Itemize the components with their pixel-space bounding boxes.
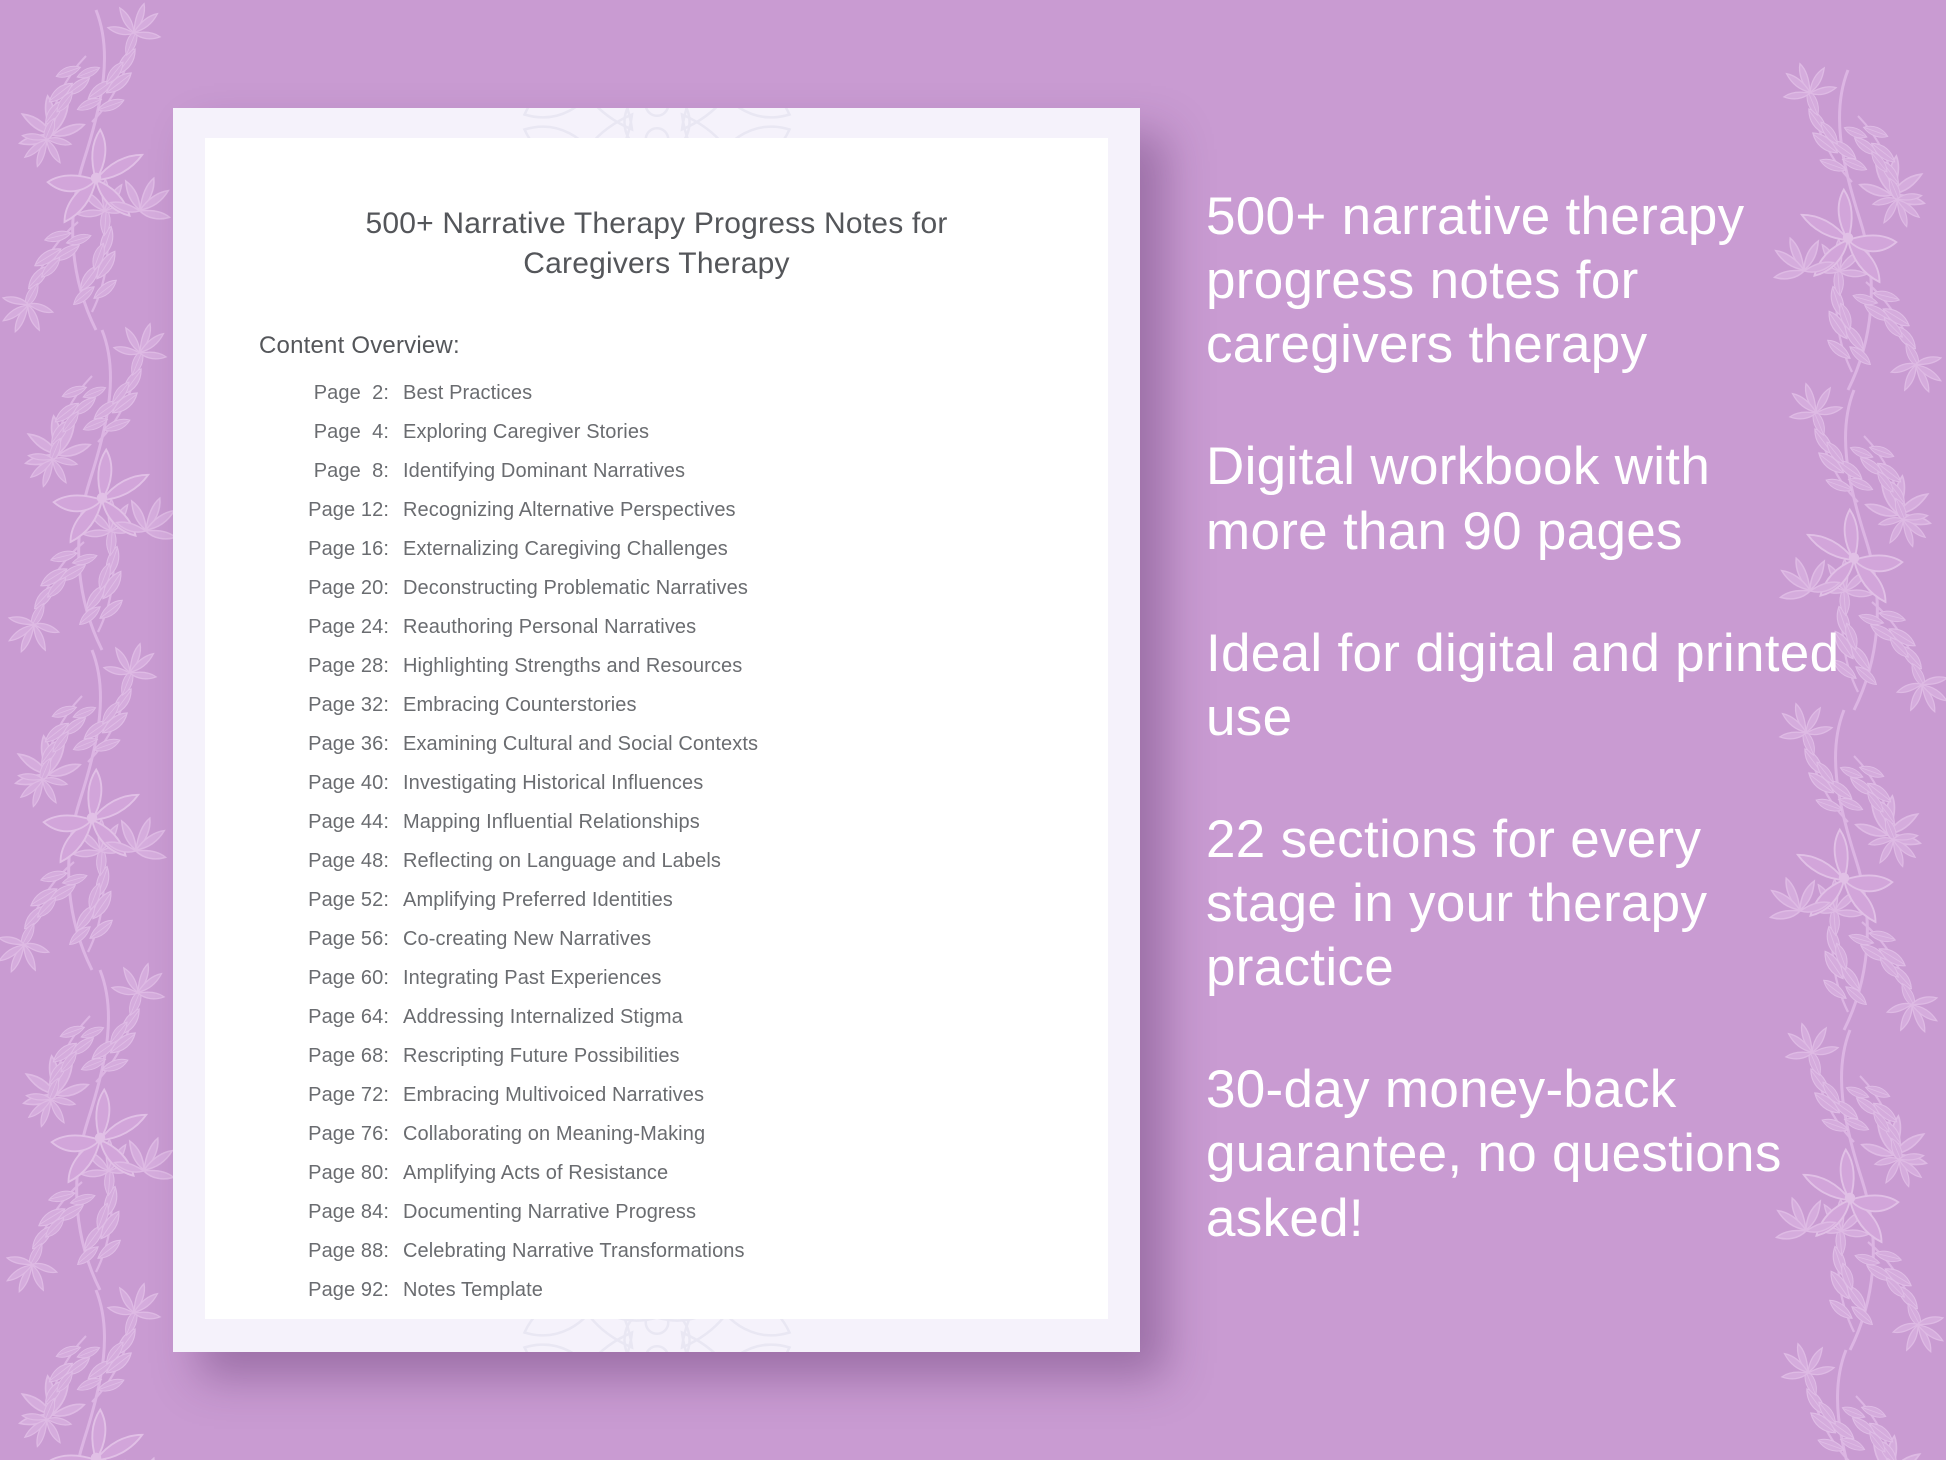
toc-page-number: Page 36:: [281, 733, 389, 756]
toc-page-number: Page 16:: [281, 538, 389, 561]
toc-row: Page 76: Collaborating on Meaning-Making: [281, 1123, 1108, 1162]
toc-row: Page 44: Mapping Influential Relationshi…: [281, 811, 1108, 850]
toc-section-label: Investigating Historical Influences: [389, 772, 703, 795]
page-title: 500+ Narrative Therapy Progress Notes fo…: [205, 138, 1108, 284]
toc-row: Page 20: Deconstructing Problematic Narr…: [281, 577, 1108, 616]
toc-row: Page 56: Co-creating New Narratives: [281, 928, 1108, 967]
toc-section-label: Integrating Past Experiences: [389, 967, 662, 990]
toc-page-number: Page 64:: [281, 1006, 389, 1029]
toc-row: Page 80: Amplifying Acts of Resistance: [281, 1162, 1108, 1201]
toc-row: Page 84: Documenting Narrative Progress: [281, 1201, 1108, 1240]
toc-row: Page 68: Rescripting Future Possibilitie…: [281, 1045, 1108, 1084]
toc-section-label: Addressing Internalized Stigma: [389, 1006, 683, 1029]
toc-section-label: Externalizing Caregiving Challenges: [389, 538, 728, 561]
toc-page-number: Page 80:: [281, 1162, 389, 1185]
toc-section-label: Identifying Dominant Narratives: [389, 460, 685, 483]
toc-section-label: Documenting Narrative Progress: [389, 1201, 696, 1224]
toc-row: Page 40: Investigating Historical Influe…: [281, 772, 1108, 811]
toc-section-label: Rescripting Future Possibilities: [389, 1045, 680, 1068]
toc-row: Page 52: Amplifying Preferred Identities: [281, 889, 1108, 928]
toc-page-number: Page 2:: [281, 382, 389, 405]
toc-section-label: Co-creating New Narratives: [389, 928, 651, 951]
toc-section-label: Amplifying Preferred Identities: [389, 889, 673, 912]
toc-section-label: Amplifying Acts of Resistance: [389, 1162, 668, 1185]
content-overview-heading: Content Overview:: [205, 284, 1108, 360]
toc-page-number: Page 56:: [281, 928, 389, 951]
toc-page-number: Page 24:: [281, 616, 389, 639]
toc-row: Page 48: Reflecting on Language and Labe…: [281, 850, 1108, 889]
toc-row: Page 16: Externalizing Caregiving Challe…: [281, 538, 1108, 577]
toc-row: Page 60: Integrating Past Experiences: [281, 967, 1108, 1006]
toc-section-label: Highlighting Strengths and Resources: [389, 655, 742, 678]
toc-section-label: Notes Template: [389, 1279, 543, 1302]
toc-row: Page 92: Notes Template: [281, 1279, 1108, 1318]
toc-section-label: Deconstructing Problematic Narratives: [389, 577, 748, 600]
promo-block-pages: Digital workbook with more than 90 pages: [1206, 435, 1846, 563]
toc-row: Page 72: Embracing Multivoiced Narrative…: [281, 1084, 1108, 1123]
toc-page-number: Page 88:: [281, 1240, 389, 1263]
toc-row: Page 12: Recognizing Alternative Perspec…: [281, 499, 1108, 538]
toc-page-number: Page 48:: [281, 850, 389, 873]
toc-page-number: Page 28:: [281, 655, 389, 678]
promo-block-usage: Ideal for digital and printed use: [1206, 622, 1846, 750]
toc-page-number: Page 60:: [281, 967, 389, 990]
toc-page-number: Page 92:: [281, 1279, 389, 1302]
toc-page-number: Page 40:: [281, 772, 389, 795]
toc-section-label: Celebrating Narrative Transformations: [389, 1240, 745, 1263]
toc-page-number: Page 76:: [281, 1123, 389, 1146]
toc-row: Page 28: Highlighting Strengths and Reso…: [281, 655, 1108, 694]
toc-page-number: Page 44:: [281, 811, 389, 834]
toc-page-number: Page 52:: [281, 889, 389, 912]
toc-section-label: Exploring Caregiver Stories: [389, 421, 649, 444]
toc-section-label: Reauthoring Personal Narratives: [389, 616, 696, 639]
table-of-contents: Page 2: Best Practices Page 4: Exploring…: [205, 360, 1108, 1318]
toc-page-number: Page 72:: [281, 1084, 389, 1107]
toc-row: Page 36: Examining Cultural and Social C…: [281, 733, 1108, 772]
toc-section-label: Examining Cultural and Social Contexts: [389, 733, 758, 756]
promo-panel: 500+ narrative therapy progress notes fo…: [1206, 185, 1846, 1251]
toc-row: Page 8: Identifying Dominant Narratives: [281, 460, 1108, 499]
toc-row: Page 4: Exploring Caregiver Stories: [281, 421, 1108, 460]
toc-page-number: Page 20:: [281, 577, 389, 600]
toc-page-number: Page 12:: [281, 499, 389, 522]
toc-page-number: Page 84:: [281, 1201, 389, 1224]
toc-section-label: Best Practices: [389, 382, 532, 405]
toc-section-label: Recognizing Alternative Perspectives: [389, 499, 736, 522]
promo-block-guarantee: 30-day money-back guarantee, no question…: [1206, 1058, 1846, 1250]
toc-section-label: Reflecting on Language and Labels: [389, 850, 721, 873]
toc-page-number: Page 68:: [281, 1045, 389, 1068]
toc-section-label: Mapping Influential Relationships: [389, 811, 700, 834]
toc-page-number: Page 32:: [281, 694, 389, 717]
toc-row: Page 2: Best Practices: [281, 382, 1108, 421]
toc-section-label: Embracing Counterstories: [389, 694, 637, 717]
toc-row: Page 32: Embracing Counterstories: [281, 694, 1108, 733]
toc-section-label: Collaborating on Meaning-Making: [389, 1123, 705, 1146]
toc-row: Page 64: Addressing Internalized Stigma: [281, 1006, 1108, 1045]
document-page-sheet: 500+ Narrative Therapy Progress Notes fo…: [205, 138, 1108, 1319]
toc-row: Page 24: Reauthoring Personal Narratives: [281, 616, 1108, 655]
toc-page-number: Page 4:: [281, 421, 389, 444]
toc-row: Page 88: Celebrating Narrative Transform…: [281, 1240, 1108, 1279]
promo-block-sections: 22 sections for every stage in your ther…: [1206, 808, 1846, 1000]
document-page-mat: 500+ Narrative Therapy Progress Notes fo…: [173, 108, 1140, 1352]
promo-block-product: 500+ narrative therapy progress notes fo…: [1206, 185, 1846, 377]
toc-page-number: Page 8:: [281, 460, 389, 483]
toc-section-label: Embracing Multivoiced Narratives: [389, 1084, 704, 1107]
